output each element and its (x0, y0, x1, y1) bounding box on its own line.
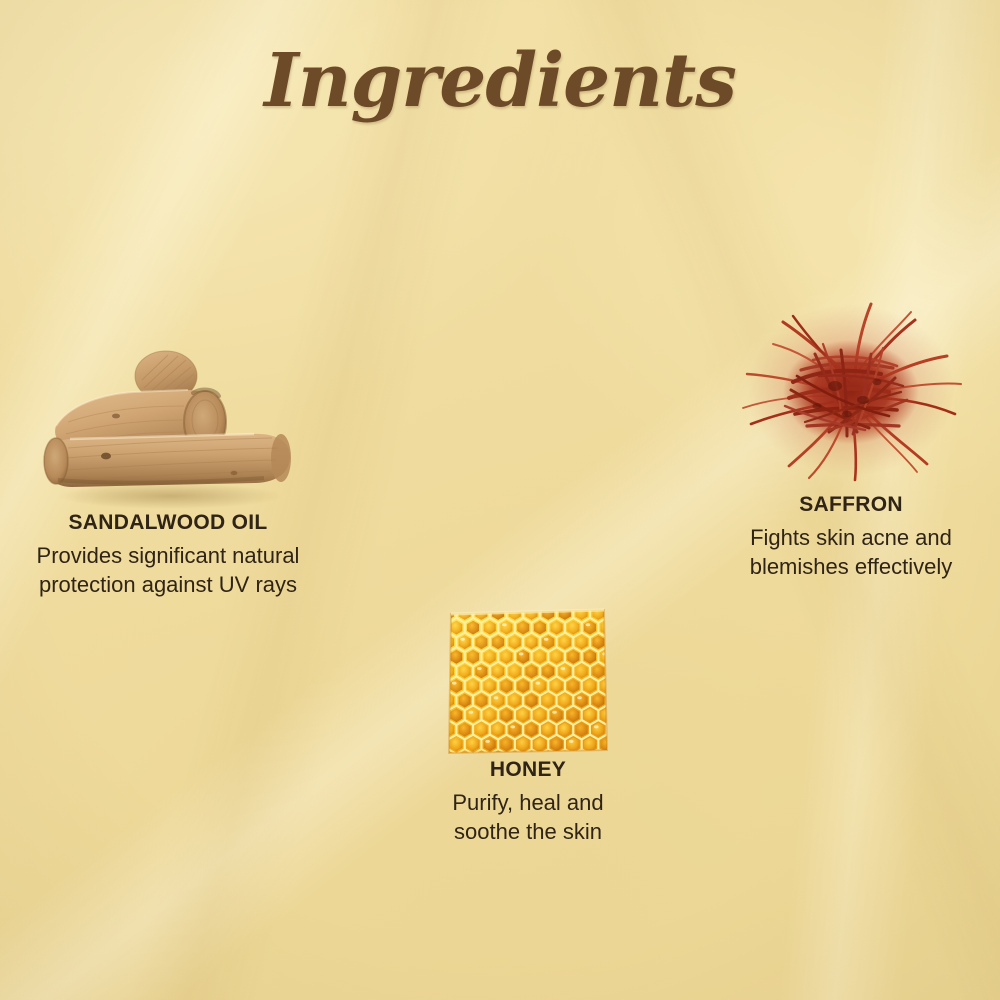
ingredients-panel: Ingredients (0, 0, 1000, 1000)
ingredient-description: Fights skin acne and blemishes effective… (712, 523, 990, 581)
ingredient-name: SAFFRON (712, 492, 990, 519)
saffron-threads-image (731, 282, 971, 492)
ingredient-description: Purify, heal and soothe the skin (404, 788, 652, 846)
honeycomb-image (444, 605, 612, 757)
ingredient-saffron: SAFFRON Fights skin acne and blemishes e… (712, 282, 990, 581)
sandalwood-logs-image (38, 330, 298, 510)
ingredient-description: Provides significant natural protection … (8, 541, 328, 599)
sandalwood-bottom-log (44, 434, 291, 487)
sandalwood-ground-shadow (58, 483, 282, 509)
ingredient-sandalwood: SANDALWOOD OIL Provides significant natu… (8, 330, 328, 599)
ingredient-honey: HONEY Purify, heal and soothe the skin (404, 605, 652, 846)
ingredient-name: HONEY (404, 757, 652, 784)
page-title: Ingredients (0, 38, 1000, 124)
ingredient-name: SANDALWOOD OIL (8, 510, 328, 537)
sandalwood-knot (101, 453, 111, 460)
